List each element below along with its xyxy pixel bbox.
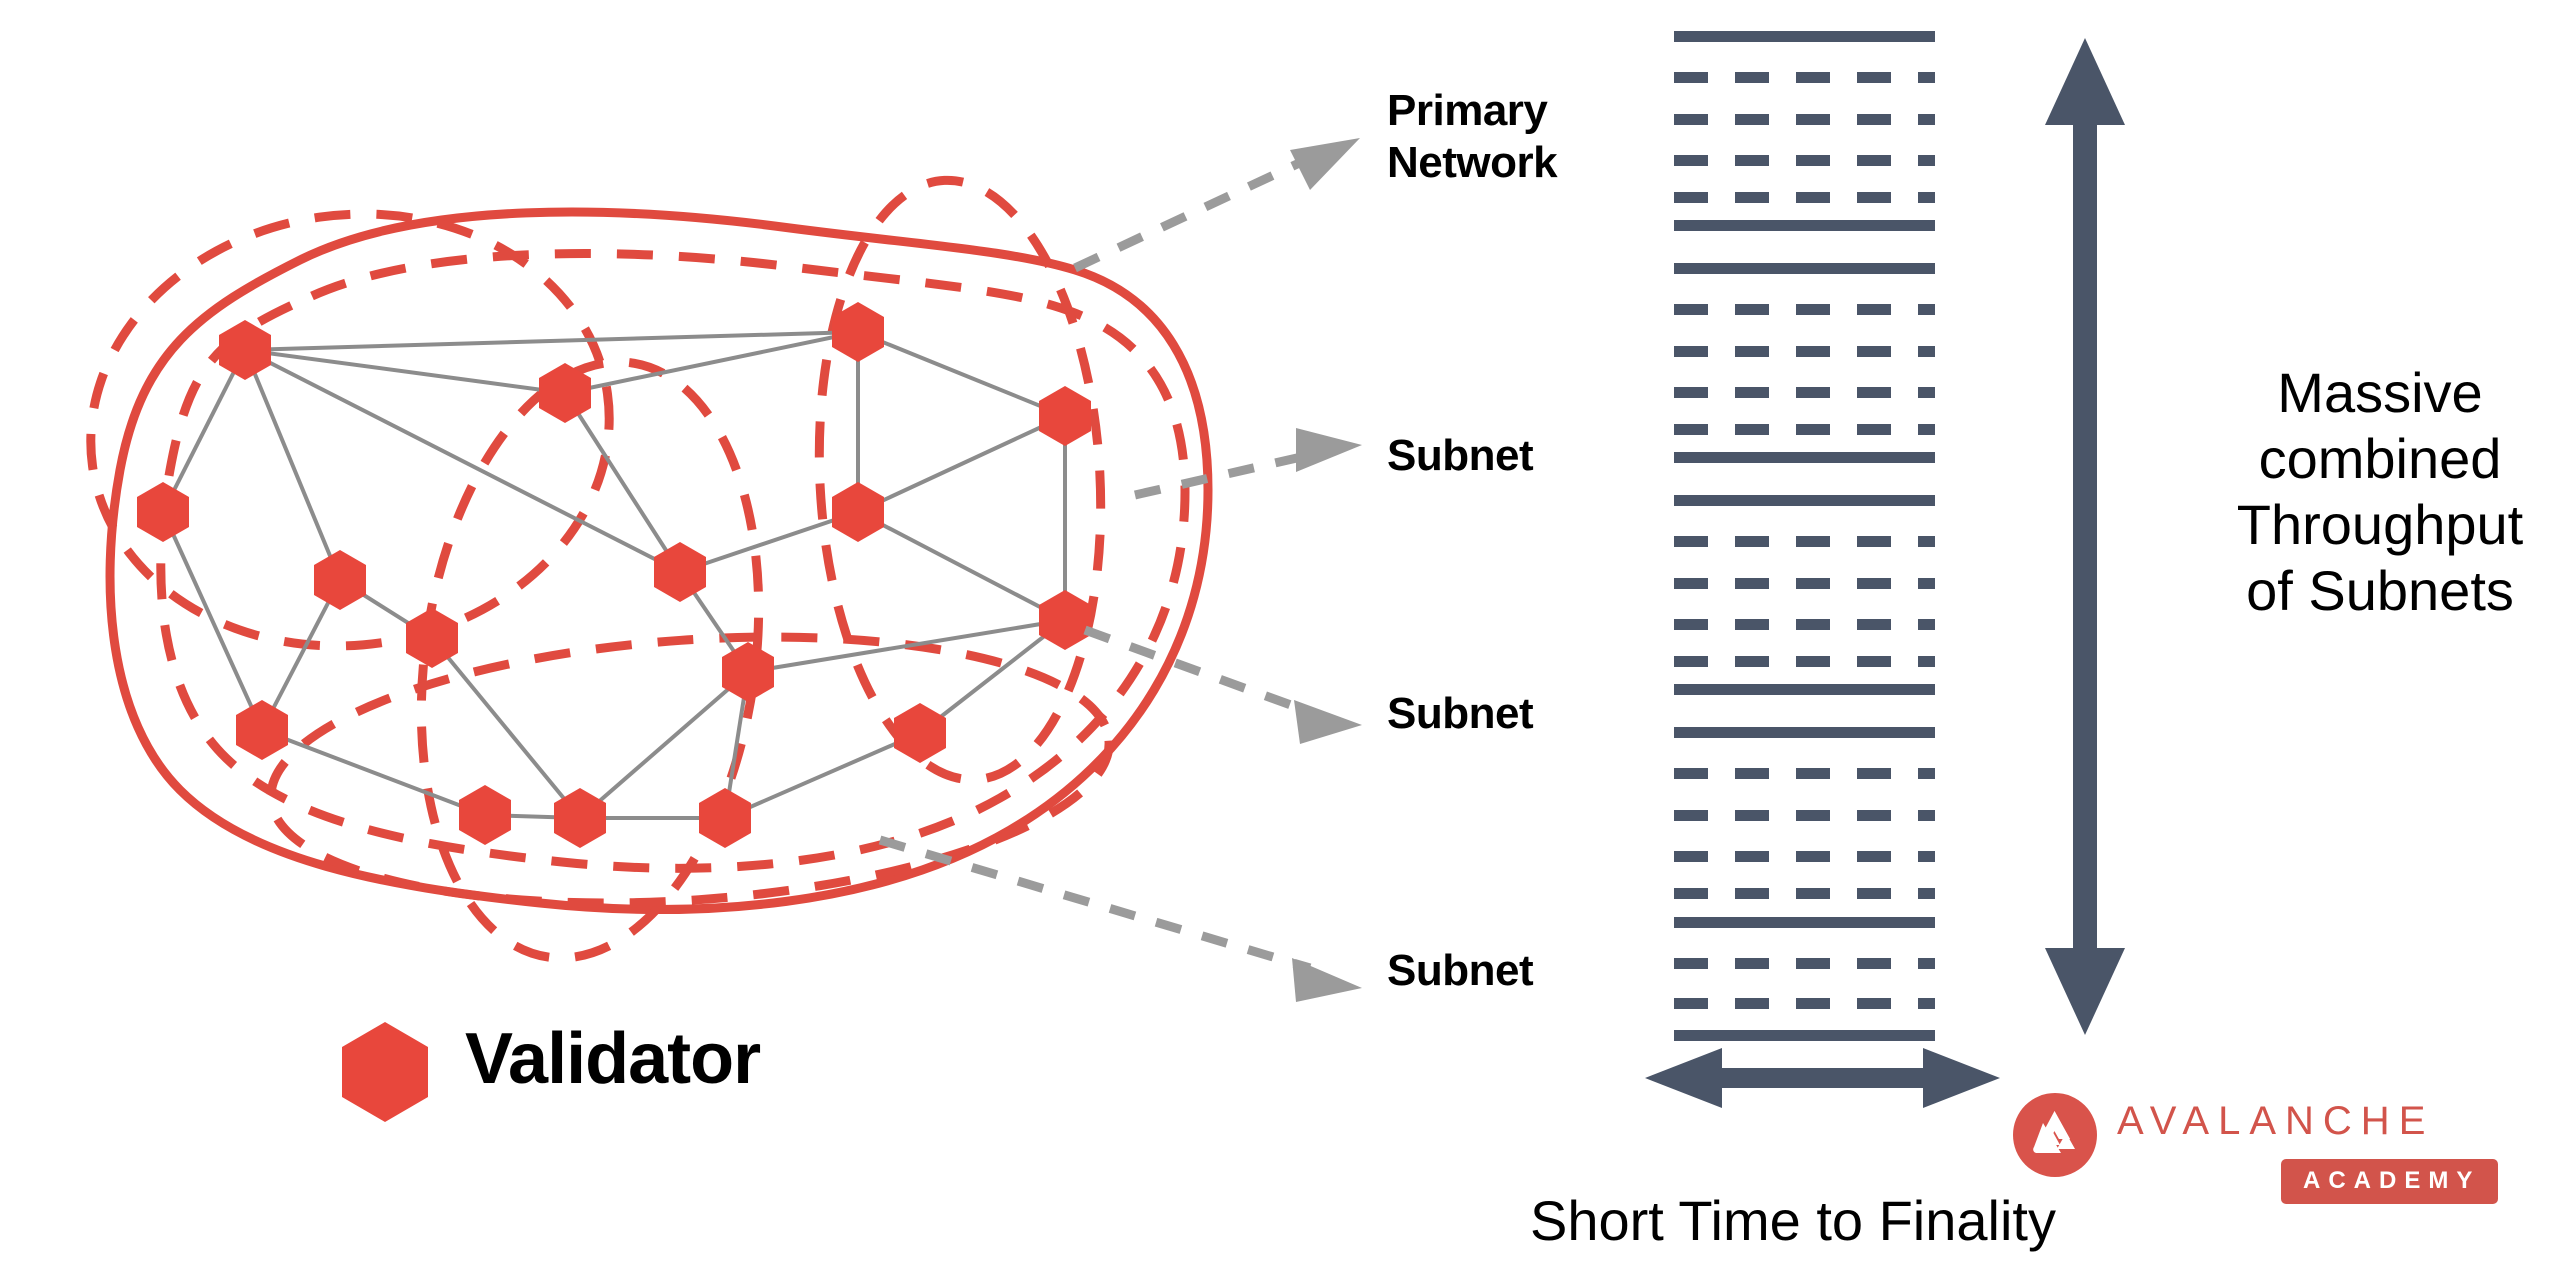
lane-dash-row: [1674, 851, 1935, 862]
diagram-canvas: [0, 0, 2558, 1276]
label-short-time-to-finality: Short Time to Finality: [1530, 1188, 2056, 1254]
leader-line-subnet-2: [1085, 630, 1310, 712]
lane-dash-row: [1674, 192, 1935, 203]
legend-hexagon-icon: [342, 1022, 428, 1122]
vertical-throughput-arrow: [2045, 38, 2125, 1035]
lane-dash-row: [1674, 958, 1935, 969]
validator-node[interactable]: [699, 788, 751, 848]
leader-line-primary-network: [1075, 158, 1310, 268]
lane-dash-row: [1674, 768, 1935, 779]
validator-node[interactable]: [894, 703, 946, 763]
subnet-region-left: [63, 181, 638, 679]
subnet-bottom-dashed: [262, 611, 1118, 929]
arrowhead-subnet-1: [1296, 428, 1362, 472]
lane-dash-row: [1674, 304, 1935, 315]
validator-node[interactable]: [1039, 590, 1091, 650]
lane-dash-row: [1674, 810, 1935, 821]
horizontal-finality-arrow: [1645, 1048, 2000, 1108]
lane-dash-row: [1674, 387, 1935, 398]
validator-node[interactable]: [236, 700, 288, 760]
lane-rule: [1674, 917, 1935, 928]
arrowhead-subnet-2: [1294, 700, 1362, 744]
lane-dash-row: [1674, 998, 1935, 1009]
lane-dash-row: [1674, 578, 1935, 589]
subnet-region-bottom: [262, 611, 1118, 929]
validator-node[interactable]: [654, 542, 706, 602]
lane-rule: [1674, 684, 1935, 695]
lane-dash-row: [1674, 619, 1935, 630]
leader-arrowheads: [1290, 138, 1362, 1002]
lane-dash-row: [1674, 72, 1935, 83]
label-subnet-1: Subnet: [1387, 430, 1533, 482]
lane-dash-row: [1674, 346, 1935, 357]
arrowhead-primary-network: [1290, 138, 1360, 190]
lane-dash-row: [1674, 656, 1935, 667]
lane-rule: [1674, 727, 1935, 738]
lane-rule: [1674, 220, 1935, 231]
lane-dash-row: [1674, 424, 1935, 435]
leader-line-subnet-1: [1135, 455, 1310, 495]
label-subnet-3: Subnet: [1387, 945, 1533, 997]
diagram-root: Primary Network Subnet Subnet Subnet Val…: [0, 0, 2558, 1276]
leader-line-subnet-3: [880, 840, 1310, 968]
label-massive-throughput: Massive combined Throughput of Subnets: [2200, 360, 2558, 624]
subnet-left-dashed: [63, 181, 638, 679]
validator-node[interactable]: [832, 482, 884, 542]
academy-badge: ACADEMY: [2281, 1159, 2498, 1204]
throughput-lanes: [1674, 31, 1935, 1041]
lane-rule: [1674, 263, 1935, 274]
avalanche-wordmark: AVALANCHE: [2117, 1099, 2434, 1144]
label-subnet-2: Subnet: [1387, 688, 1533, 740]
validator-node[interactable]: [722, 642, 774, 702]
validator-node[interactable]: [137, 482, 189, 542]
lane-rule: [1674, 452, 1935, 463]
validator-node[interactable]: [314, 550, 366, 610]
lane-rule: [1674, 1030, 1935, 1041]
validator-node[interactable]: [1039, 386, 1091, 446]
validator-node[interactable]: [219, 320, 271, 380]
avalanche-triangle-icon: [2013, 1093, 2097, 1177]
lane-dash-row: [1674, 888, 1935, 899]
lane-dash-row: [1674, 536, 1935, 547]
lane-dash-row: [1674, 155, 1935, 166]
academy-badge-label: ACADEMY: [2303, 1167, 2480, 1194]
label-primary-network: Primary Network: [1387, 85, 1557, 189]
legend-label-validator: Validator: [465, 1018, 760, 1100]
lane-rule: [1674, 495, 1935, 506]
lane-rule: [1674, 31, 1935, 42]
arrowhead-subnet-3: [1292, 958, 1362, 1002]
lane-dash-row: [1674, 114, 1935, 125]
avalanche-academy-logo: AVALANCHE ACADEMY: [2013, 1093, 2533, 1211]
validator-node[interactable]: [459, 785, 511, 845]
